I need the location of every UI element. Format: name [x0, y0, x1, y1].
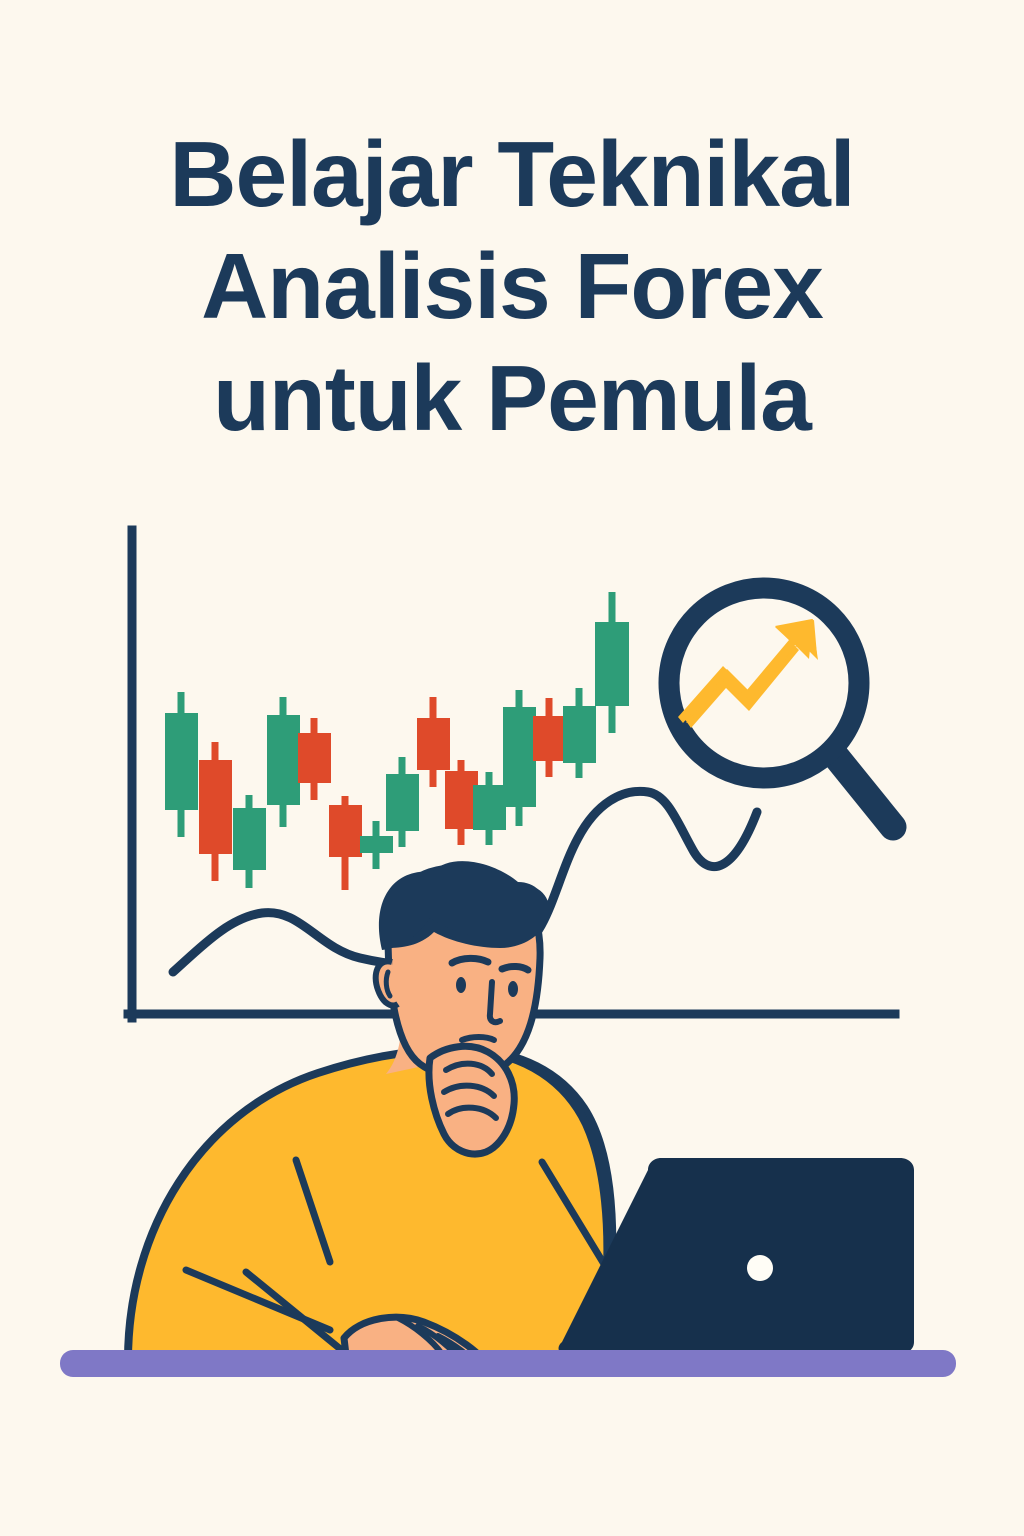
title-line-3: untuk Pemula — [0, 342, 1024, 454]
candle-6 — [329, 796, 362, 890]
eyebrow-right — [502, 966, 528, 970]
candle-13 — [533, 698, 566, 777]
laptop-logo — [747, 1255, 773, 1281]
candle-8 — [386, 757, 419, 847]
person-at-laptop-scene — [60, 861, 956, 1377]
page-title: Belajar Teknikal Analisis Forex untuk Pe… — [0, 118, 1024, 454]
eye-left — [456, 977, 466, 993]
candle-5 — [298, 718, 331, 800]
eye-right — [508, 981, 518, 997]
candle-1 — [165, 692, 198, 837]
title-line-2: Analisis Forex — [0, 230, 1024, 342]
candle-3 — [233, 795, 266, 888]
desk-surface — [60, 1350, 956, 1377]
poster-canvas: Belajar Teknikal Analisis Forex untuk Pe… — [0, 0, 1024, 1536]
candle-15 — [595, 592, 629, 733]
mouth — [462, 1037, 494, 1040]
candle-2 — [199, 742, 232, 881]
magnifier-handle — [834, 754, 893, 827]
candlestick-series — [165, 592, 629, 890]
candle-14 — [563, 688, 596, 778]
title-line-1: Belajar Teknikal — [0, 118, 1024, 230]
candle-12 — [503, 690, 536, 826]
candle-4 — [267, 697, 300, 827]
magnifying-glass-icon — [669, 588, 893, 827]
